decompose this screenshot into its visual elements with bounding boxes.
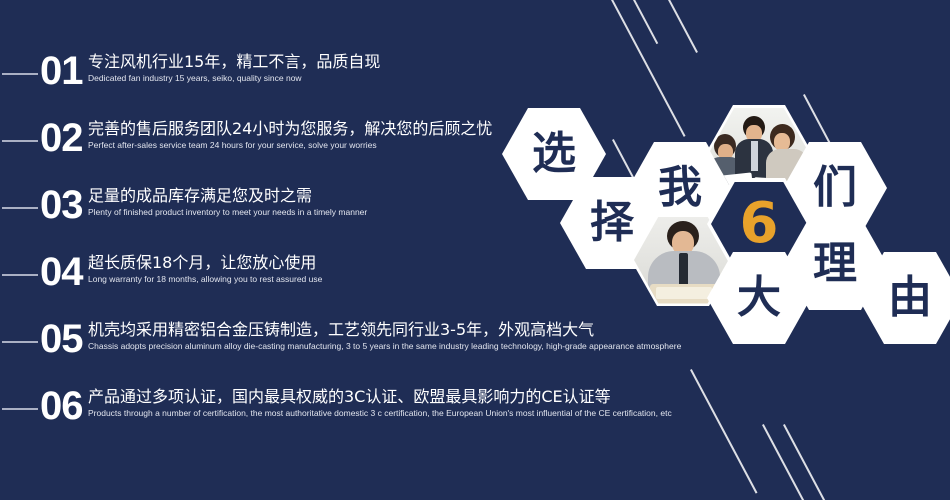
list-item-text: 足量的成品库存满足您及时之需 Plenty of finished produc… [88, 185, 367, 218]
list-item-number: 01 [40, 48, 83, 94]
list-item-rule [2, 274, 38, 276]
hex-glyph: 我 [658, 166, 702, 210]
list-item-title-en: Dedicated fan industry 15 years, seiko, … [88, 72, 380, 84]
list-item-number: 05 [40, 316, 83, 362]
diagonal-line-3 [668, 0, 697, 53]
list-item-title-cn: 完善的售后服务团队24小时为您服务，解决您的后顾之忧 [88, 118, 492, 139]
list-item-title-cn: 专注风机行业15年，精工不言，品质自现 [88, 51, 380, 72]
hex-glyph: 择 [590, 201, 634, 245]
hexagon-cluster: 选 择 我 [500, 80, 950, 420]
list-item-text: 专注风机行业15年，精工不言，品质自现 Dedicated fan indust… [88, 51, 380, 84]
list-item-text: 超长质保18个月，让您放心使用 Long warranty for 18 mon… [88, 252, 322, 285]
list-item-number: 04 [40, 249, 83, 295]
list-item-rule [2, 408, 38, 410]
list-item-rule [2, 140, 38, 142]
list-item-text: 完善的售后服务团队24小时为您服务，解决您的后顾之忧 Perfect after… [88, 118, 492, 151]
list-item-title-en: Perfect after-sales service team 24 hour… [88, 139, 492, 151]
list-item-rule [2, 73, 38, 75]
list-item-title-cn: 超长质保18个月，让您放心使用 [88, 252, 322, 273]
hex-glyph: 由 [888, 276, 932, 320]
list-item-rule [2, 207, 38, 209]
list-item-number: 02 [40, 115, 83, 161]
list-item-rule [2, 341, 38, 343]
hex-glyph: 大 [737, 276, 781, 320]
hex-glyph-number: 6 [740, 196, 779, 252]
hex-glyph: 们 [813, 166, 857, 210]
hex-glyph: 理 [813, 242, 857, 286]
list-item-title-en: Plenty of finished product inventory to … [88, 206, 367, 218]
diagonal-line-7 [762, 424, 806, 500]
list-item-number: 03 [40, 182, 83, 228]
banner-stage: 01 专注风机行业15年，精工不言，品质自现 Dedicated fan ind… [0, 0, 950, 500]
hex-glyph: 选 [532, 132, 576, 176]
list-item-title-cn: 足量的成品库存满足您及时之需 [88, 185, 367, 206]
list-item-number: 06 [40, 383, 83, 429]
diagonal-line-2 [633, 0, 658, 44]
list-item-title-en: Long warranty for 18 months, allowing yo… [88, 273, 322, 285]
diagonal-line-8 [783, 424, 827, 500]
